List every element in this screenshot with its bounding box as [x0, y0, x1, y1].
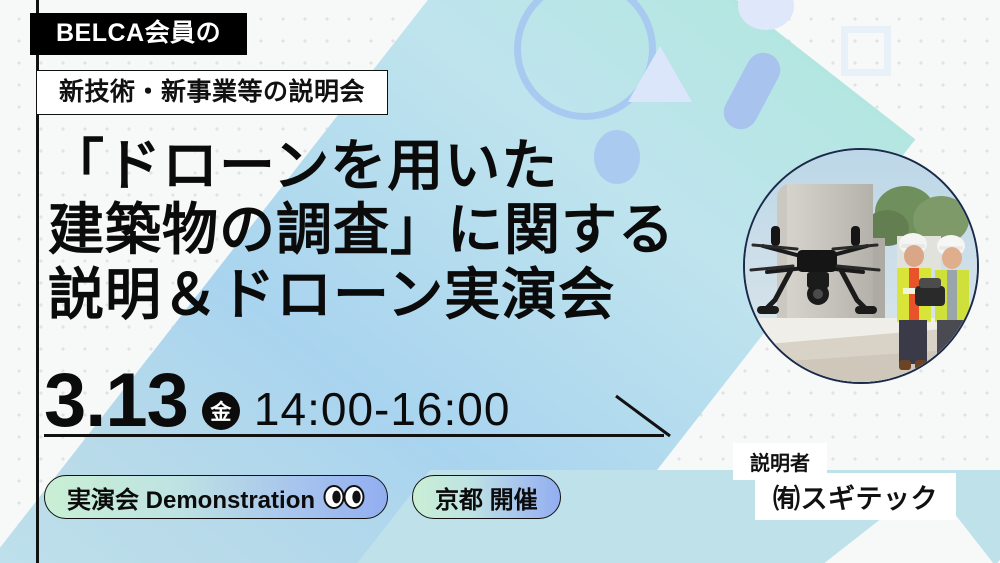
speaker-company-name: ㈲スギテック	[755, 473, 956, 520]
date-time-row: 3.13 金 14:00-16:00	[44, 358, 664, 436]
pill-location[interactable]: 京都 開催	[412, 475, 561, 519]
event-banner: BELCA会員の 新技術・新事業等の説明会 「ドローンを用いた 建築物の調査」に…	[0, 0, 1000, 563]
drone-and-inspectors-illustration	[745, 150, 977, 382]
event-time-range: 14:00-16:00	[254, 386, 511, 432]
triangle-decoration	[628, 46, 692, 102]
pill-demonstration[interactable]: 実演会 Demonstration	[44, 475, 388, 519]
organizer-tag: BELCA会員の	[30, 13, 247, 55]
title-line-1: 「ドローンを用いた	[48, 134, 728, 198]
pill-demonstration-label: 実演会 Demonstration	[67, 480, 315, 515]
event-date: 3.13	[44, 366, 188, 436]
page-title: 「ドローンを用いた 建築物の調査」に関する 説明＆ドローン実演会	[48, 134, 728, 327]
subtitle-tag: 新技術・新事業等の説明会	[36, 70, 388, 115]
arrow-diagonal-icon	[614, 394, 672, 438]
day-of-week-badge: 金	[202, 392, 240, 430]
title-line-3: 説明＆ドローン実演会	[48, 263, 728, 327]
square-outline-decoration	[841, 26, 891, 76]
date-underline	[44, 434, 664, 437]
eyes-icon	[323, 485, 365, 509]
pill-location-label: 京都 開催	[435, 480, 538, 515]
drone-photo	[743, 148, 979, 384]
title-line-2: 建築物の調査」に関する	[48, 198, 728, 262]
